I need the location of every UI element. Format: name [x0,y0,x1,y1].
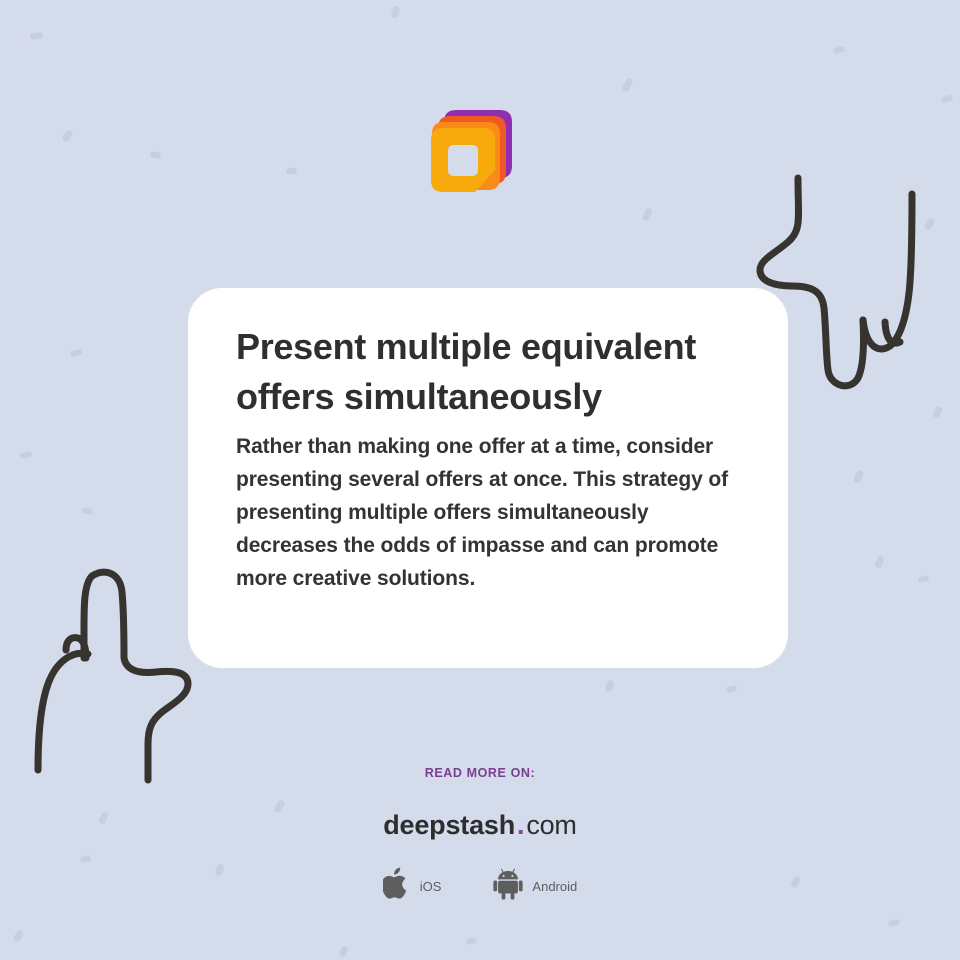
brand-name: deepstash [383,810,515,840]
confetti-dash [30,32,44,40]
apple-icon [383,867,411,906]
idea-title: Present multiple equivalent offers simul… [236,322,744,422]
confetti-dash [853,469,865,484]
read-more-label: READ MORE ON: [0,766,960,780]
deepstash-logo [430,104,514,198]
confetti-dash [923,217,935,231]
footer: READ MORE ON: deepstash.com iOS [0,766,960,906]
confetti-dash [61,129,73,143]
deepstash-idea-card-page: Present multiple equivalent offers simul… [0,0,960,960]
brand-tld: com [526,810,576,840]
confetti-dash [466,937,478,944]
brand-dot: . [515,810,526,840]
confetti-dash [621,77,634,93]
confetti-dash [917,575,929,583]
confetti-dash [390,5,400,19]
android-badge-label: Android [532,879,577,894]
confetti-dash [874,555,885,569]
confetti-dash [20,451,33,459]
confetti-dash [832,46,845,55]
idea-body-text: Rather than making one offer at a time, … [236,430,744,595]
confetti-dash [12,929,24,943]
store-badges: iOS [0,867,960,906]
confetti-dash [286,168,297,175]
confetti-dash [940,94,953,104]
confetti-dash [150,151,162,158]
brand-wordmark[interactable]: deepstash.com [0,810,960,841]
ios-store-badge[interactable]: iOS [383,867,442,906]
android-icon [493,868,523,905]
confetti-dash [69,348,82,357]
confetti-dash [338,945,349,958]
confetti-dash [642,207,654,222]
confetti-dash [932,405,944,419]
ios-badge-label: iOS [420,879,442,894]
idea-card: Present multiple equivalent offers simul… [188,288,788,668]
android-store-badge[interactable]: Android [493,868,577,905]
confetti-dash [887,918,900,927]
confetti-dash [604,679,616,693]
confetti-dash [725,685,737,694]
confetti-dash [82,507,94,515]
